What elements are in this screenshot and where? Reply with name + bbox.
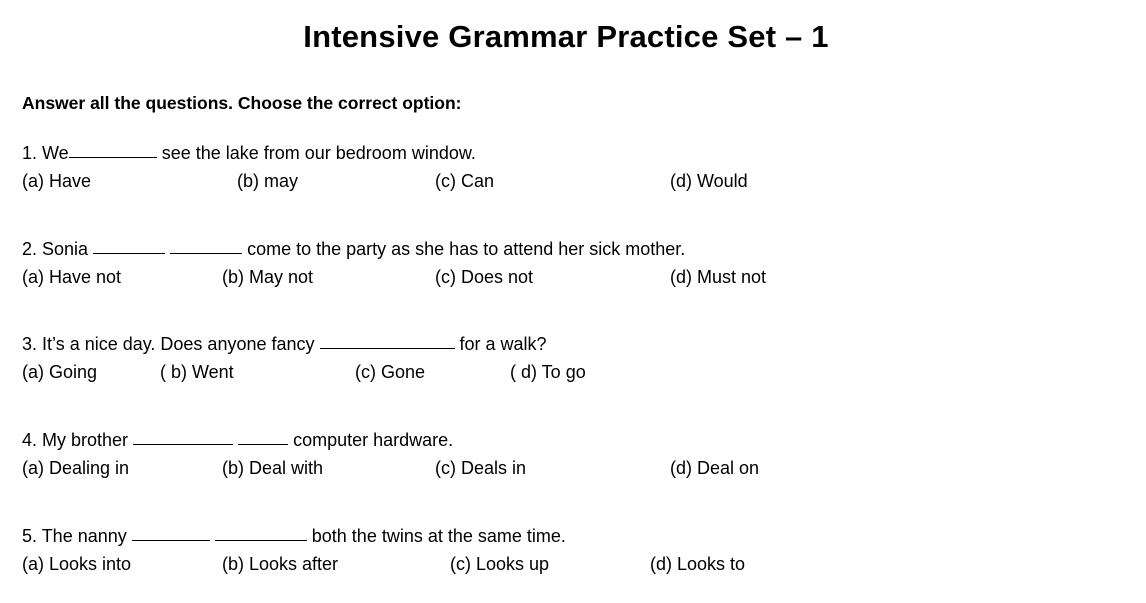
answer-blank[interactable]: [69, 144, 157, 158]
question-text-fragment: 4. My brother: [22, 430, 133, 450]
option-4-d[interactable]: (d) Deal on: [670, 457, 759, 480]
question-text-fragment: come to the party as she has to attend h…: [242, 239, 685, 259]
option-2-d[interactable]: (d) Must not: [670, 266, 766, 289]
question-block-3: 3. It’s a nice day. Does anyone fancy fo…: [22, 333, 1122, 387]
option-row-3: (a) Going( b) Went(c) Gone( d) To go: [22, 361, 1122, 387]
question-text-fragment: 3. It’s a nice day. Does anyone fancy: [22, 334, 320, 354]
question-text-1: 1. We see the lake from our bedroom wind…: [22, 142, 1122, 165]
option-3-b[interactable]: ( b) Went: [160, 361, 234, 384]
answer-blank[interactable]: [320, 335, 455, 349]
option-row-4: (a) Dealing in(b) Deal with(c) Deals in(…: [22, 457, 1122, 483]
answer-blank[interactable]: [93, 240, 165, 254]
question-text-2: 2. Sonia come to the party as she has to…: [22, 238, 1122, 261]
option-2-b[interactable]: (b) May not: [222, 266, 313, 289]
option-2-c[interactable]: (c) Does not: [435, 266, 533, 289]
question-block-2: 2. Sonia come to the party as she has to…: [22, 238, 1122, 292]
question-block-1: 1. We see the lake from our bedroom wind…: [22, 142, 1122, 196]
option-1-c[interactable]: (c) Can: [435, 170, 494, 193]
option-3-d[interactable]: ( d) To go: [510, 361, 586, 384]
question-block-4: 4. My brother computer hardware. (a) Dea…: [22, 429, 1122, 483]
page-title: Intensive Grammar Practice Set – 1: [0, 0, 1146, 55]
answer-blank[interactable]: [133, 431, 233, 445]
question-text-5: 5. The nanny both the twins at the same …: [22, 525, 1122, 548]
answer-blank[interactable]: [238, 431, 288, 445]
option-5-c[interactable]: (c) Looks up: [450, 553, 549, 576]
question-text-fragment: 5. The nanny: [22, 526, 132, 546]
option-5-a[interactable]: (a) Looks into: [22, 553, 131, 576]
question-text-4: 4. My brother computer hardware.: [22, 429, 1122, 452]
answer-blank[interactable]: [132, 527, 210, 541]
option-1-b[interactable]: (b) may: [237, 170, 298, 193]
option-4-c[interactable]: (c) Deals in: [435, 457, 526, 480]
question-block-5: 5. The nanny both the twins at the same …: [22, 525, 1122, 579]
question-text-3: 3. It’s a nice day. Does anyone fancy fo…: [22, 333, 1122, 356]
option-4-b[interactable]: (b) Deal with: [222, 457, 323, 480]
question-text-fragment: 1. We: [22, 143, 69, 163]
question-text-fragment: computer hardware.: [288, 430, 453, 450]
worksheet-page: Intensive Grammar Practice Set – 1 Answe…: [0, 0, 1146, 603]
instruction-line: Answer all the questions. Choose the cor…: [22, 93, 462, 114]
option-4-a[interactable]: (a) Dealing in: [22, 457, 129, 480]
question-text-fragment: both the twins at the same time.: [307, 526, 566, 546]
question-text-fragment: see the lake from our bedroom window.: [157, 143, 476, 163]
option-2-a[interactable]: (a) Have not: [22, 266, 121, 289]
option-row-1: (a) Have(b) may(c) Can(d) Would: [22, 170, 1122, 196]
option-5-d[interactable]: (d) Looks to: [650, 553, 745, 576]
option-row-2: (a) Have not(b) May not(c) Does not(d) M…: [22, 266, 1122, 292]
option-1-d[interactable]: (d) Would: [670, 170, 748, 193]
answer-blank[interactable]: [170, 240, 242, 254]
option-3-c[interactable]: (c) Gone: [355, 361, 425, 384]
option-3-a[interactable]: (a) Going: [22, 361, 97, 384]
option-row-5: (a) Looks into(b) Looks after(c) Looks u…: [22, 553, 1122, 579]
answer-blank[interactable]: [215, 527, 307, 541]
option-5-b[interactable]: (b) Looks after: [222, 553, 338, 576]
option-1-a[interactable]: (a) Have: [22, 170, 91, 193]
question-text-fragment: 2. Sonia: [22, 239, 93, 259]
question-text-fragment: for a walk?: [455, 334, 547, 354]
